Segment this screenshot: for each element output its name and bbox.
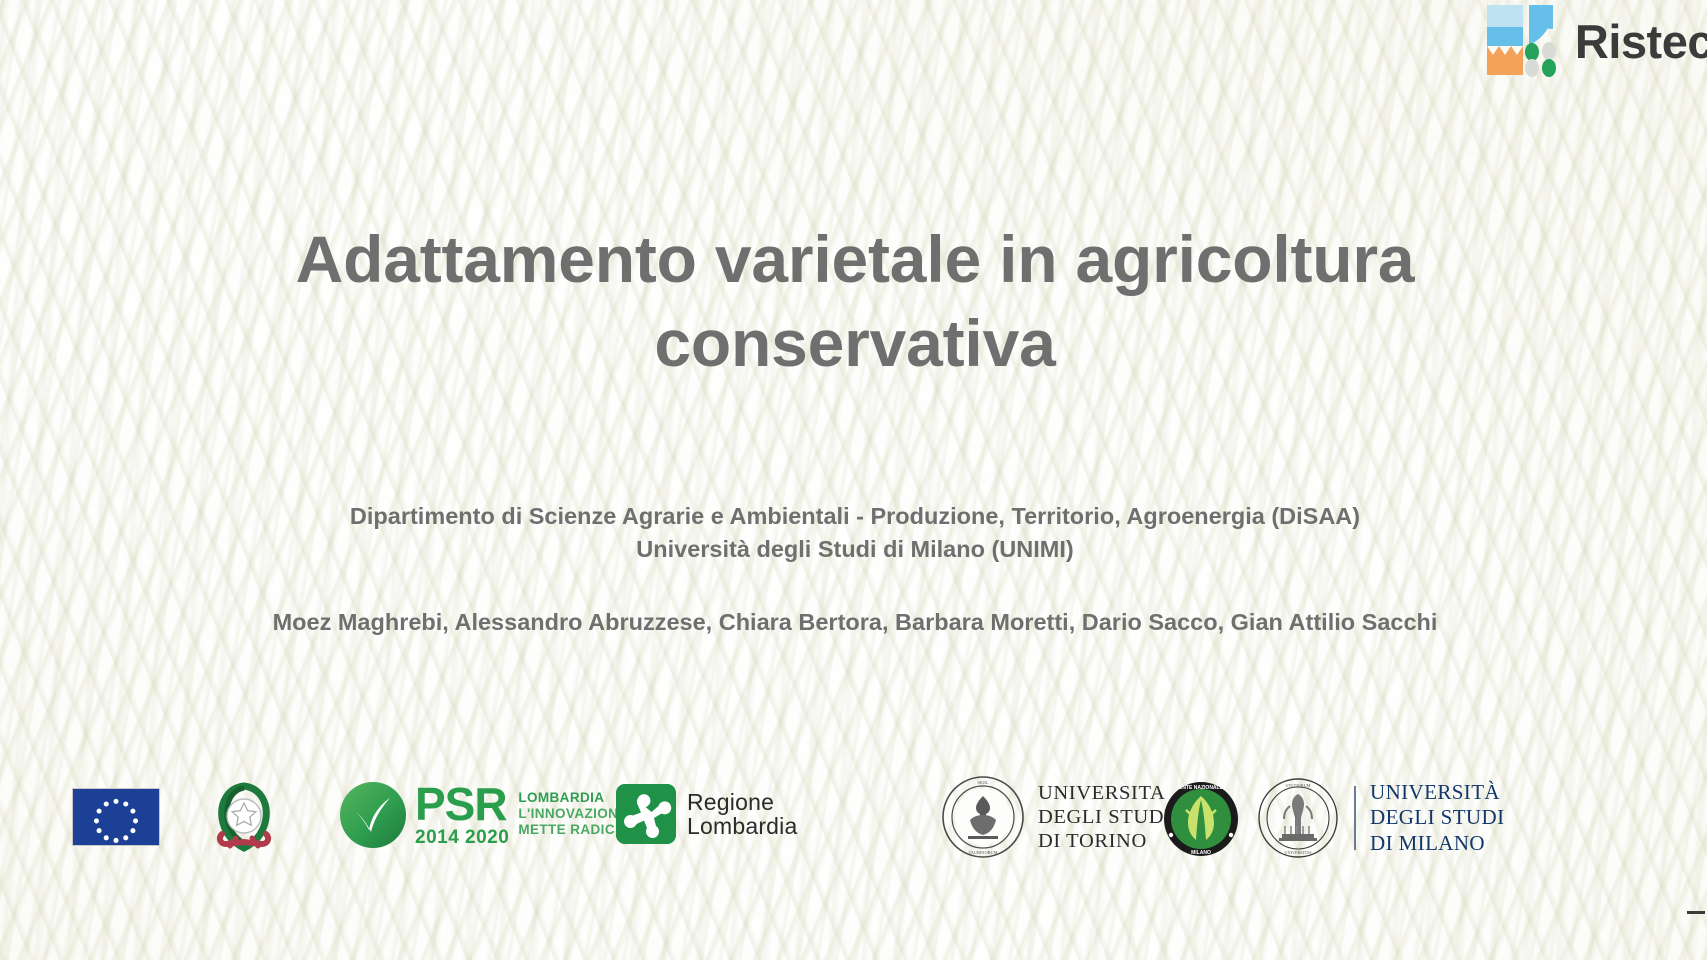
- affiliation-block: Dipartimento di Scienze Agrarie e Ambien…: [60, 500, 1650, 567]
- unimi-line-3: DI MILANO: [1370, 831, 1504, 856]
- unito-logo: SIGIL TAURINORUM UNIVERSITA DEGLI STUDI …: [940, 774, 1172, 860]
- rosa-camuna-icon: [616, 784, 676, 844]
- psr-leaf-check-icon: [338, 780, 408, 850]
- svg-text:TAURINORUM: TAURINORUM: [969, 850, 998, 855]
- italy-emblem-svg: [198, 772, 290, 864]
- european-union-flag-icon: [72, 788, 160, 846]
- presentation-slide: Ristec Adattamento varietale in agricolt…: [0, 0, 1707, 960]
- footer-logo-strip: PSR 2014 2020 LOMBARDIA L'INNOVAZIONE ME…: [0, 770, 1707, 960]
- unimi-text-block: UNIVERSITÀ DEGLI STUDI DI MILANO: [1370, 780, 1504, 856]
- svg-text:MILANO: MILANO: [1191, 850, 1211, 856]
- ristec-wordmark: Ristec: [1575, 18, 1707, 65]
- psr-region: LOMBARDIA: [518, 790, 627, 806]
- psr-tagline-line-2: METTE RADICI: [518, 822, 627, 838]
- unimi-line-1: UNIVERSITÀ: [1370, 780, 1504, 805]
- bottom-right-dash: [1687, 911, 1705, 914]
- unito-line-1: UNIVERSITA: [1038, 781, 1172, 805]
- psr-tagline-line-1: L'INNOVAZIONE: [518, 806, 627, 822]
- svg-text:UNIVERSITAS: UNIVERSITAS: [1284, 850, 1312, 855]
- ente-nazionale-risi-seal-icon: ENTE NAZIONALE MILANO: [1162, 780, 1240, 858]
- ristec-logo: Ristec: [1479, 2, 1707, 80]
- unito-line-3: DI TORINO: [1038, 829, 1172, 853]
- unito-seal-icon: SIGIL TAURINORUM: [940, 774, 1026, 860]
- psr-tagline: LOMBARDIA L'INNOVAZIONE METTE RADICI: [518, 790, 627, 838]
- eu-stars: [73, 788, 159, 846]
- svg-text:STUDIORUM: STUDIORUM: [1286, 783, 1311, 788]
- psr-years: 2014 2020: [415, 828, 509, 847]
- psr-lombardia-logo: PSR 2014 2020 LOMBARDIA L'INNOVAZIONE ME…: [338, 780, 628, 850]
- authors-line: Moez Maghrebi, Alessandro Abruzzese, Chi…: [60, 607, 1650, 638]
- ristec-field-icon: [1479, 2, 1561, 80]
- italian-republic-emblem-icon: [198, 772, 290, 864]
- psr-main-text: PSR 2014 2020: [415, 783, 509, 847]
- regione-lombardia-line-2: Lombardia: [687, 814, 797, 838]
- unimi-logo: STUDIORUM UNIVERSITAS UNIVERSITÀ DEGLI S…: [1256, 776, 1504, 860]
- affiliation-line-2: Università degli Studi di Milano (UNIMI): [60, 533, 1650, 566]
- unimi-divider: [1354, 786, 1356, 850]
- psr-acronym: PSR: [415, 783, 509, 825]
- unimi-seal-icon: STUDIORUM UNIVERSITAS: [1256, 776, 1340, 860]
- regione-lombardia-text: Regione Lombardia: [687, 790, 797, 839]
- svg-text:SIGIL: SIGIL: [978, 780, 989, 785]
- svg-text:ENTE NAZIONALE: ENTE NAZIONALE: [1179, 785, 1224, 791]
- unimi-line-2: DEGLI STUDI: [1370, 805, 1504, 830]
- psr-text-block: PSR 2014 2020 LOMBARDIA L'INNOVAZIONE ME…: [415, 783, 628, 847]
- regione-lombardia-line-1: Regione: [687, 790, 797, 814]
- slide-title: Adattamento varietale in agricoltura con…: [120, 218, 1590, 386]
- affiliation-line-1: Dipartimento di Scienze Agrarie e Ambien…: [60, 500, 1650, 533]
- unito-text-block: UNIVERSITA DEGLI STUDI DI TORINO: [1038, 781, 1172, 854]
- ente-nazionale-risi-logo: ENTE NAZIONALE MILANO: [1162, 780, 1240, 858]
- regione-lombardia-logo: Regione Lombardia: [616, 784, 797, 844]
- unito-line-2: DEGLI STUDI: [1038, 805, 1172, 829]
